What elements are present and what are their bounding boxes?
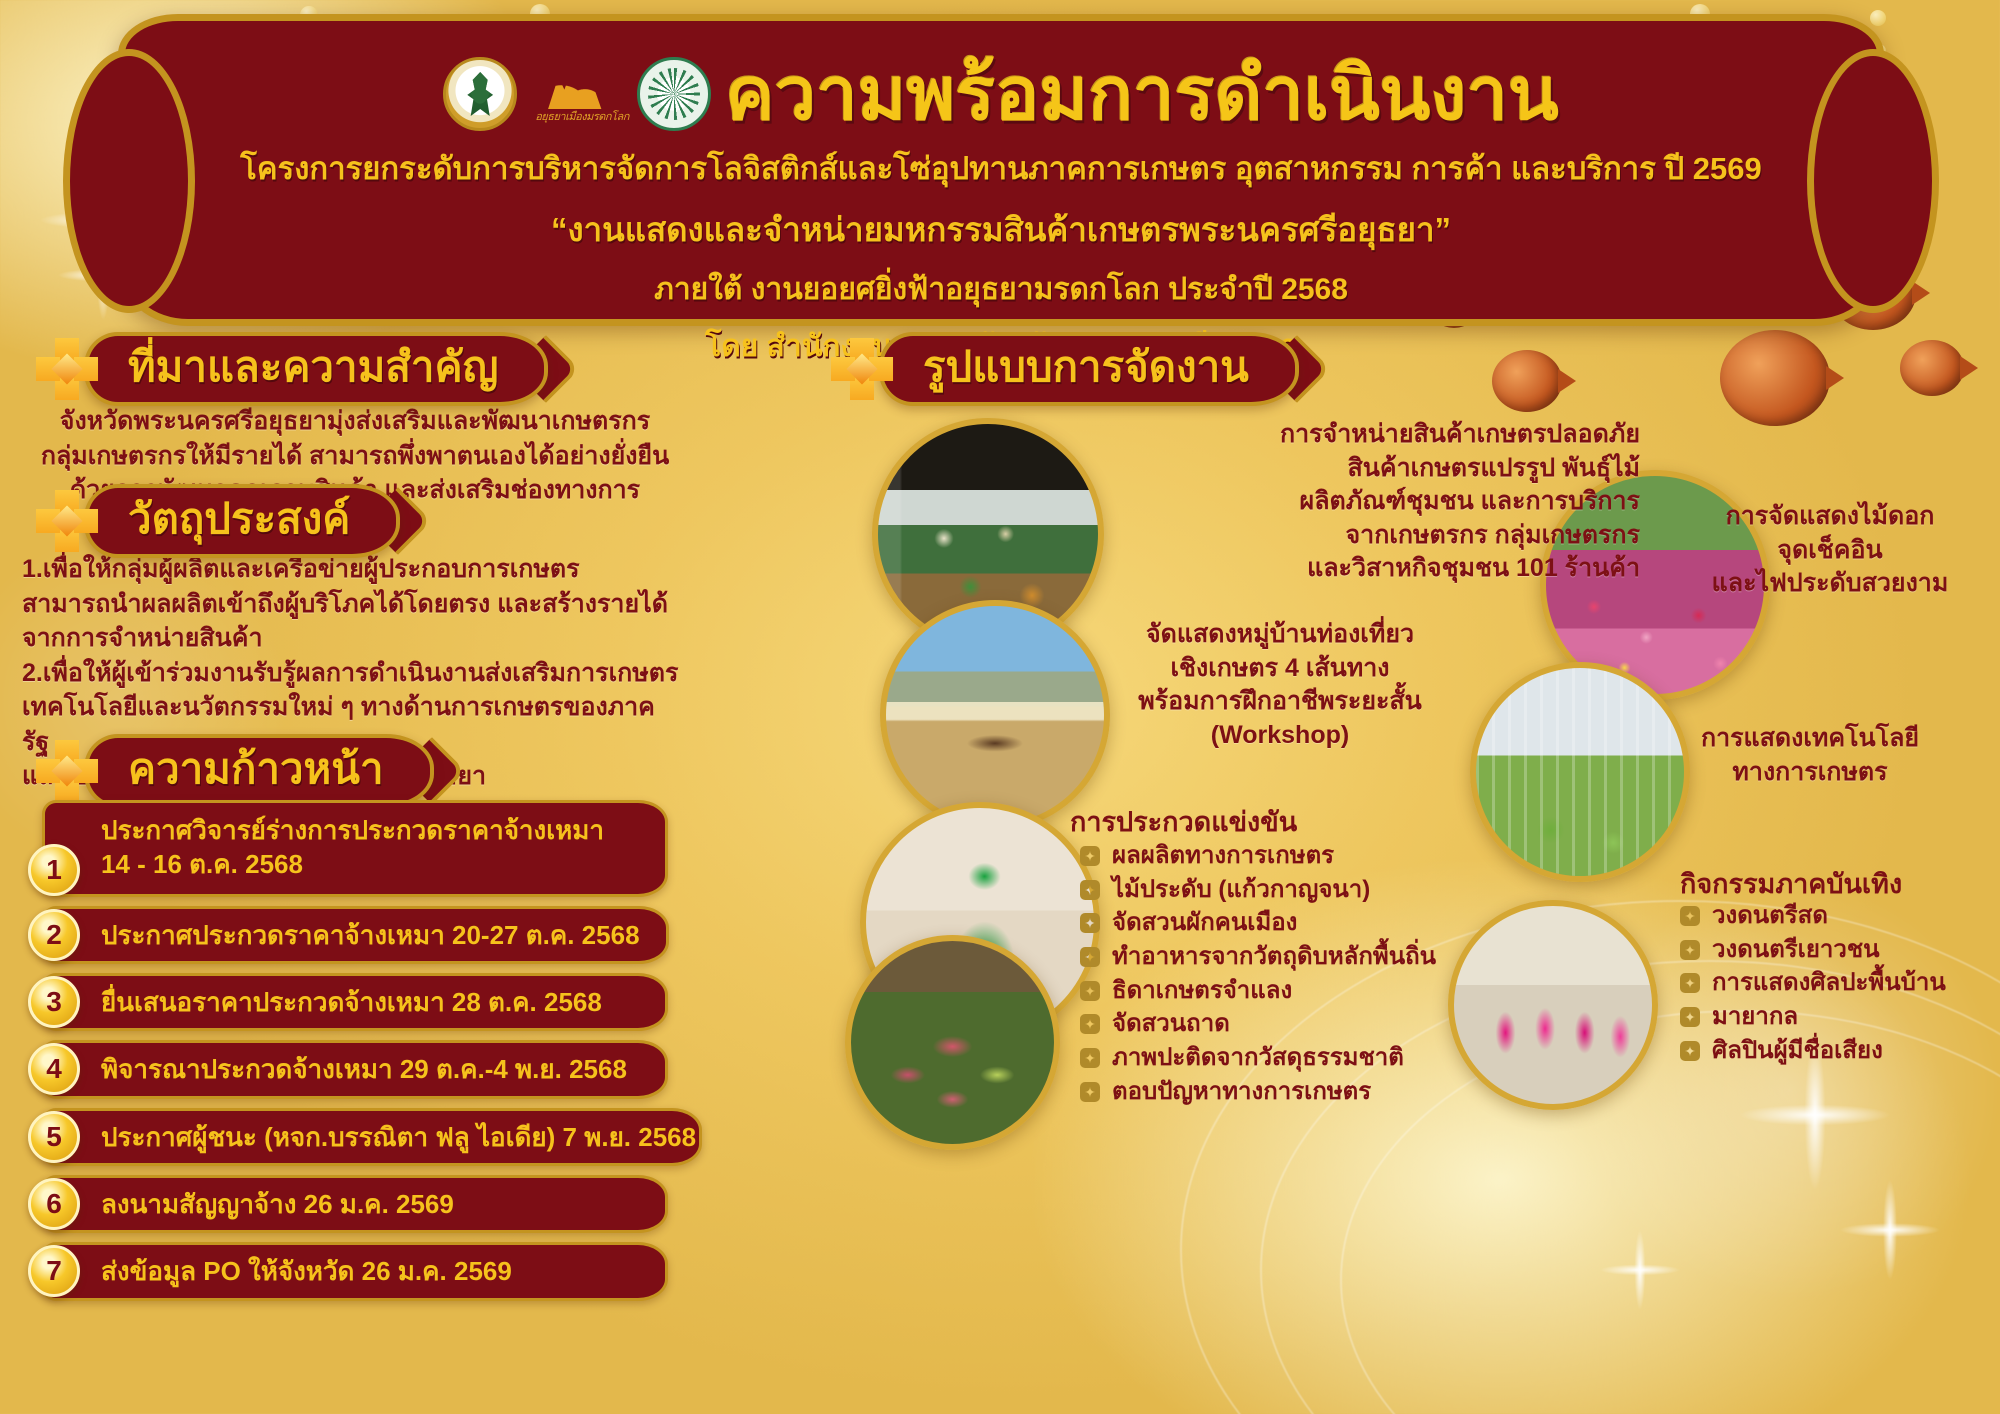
flower-bullet-icon (1680, 973, 1700, 993)
competition-title: การประกวดแข่งขัน (1070, 800, 1297, 843)
thai-flower-ornament-icon (30, 732, 104, 810)
page-title: ความพร้อมการดำเนินงาน (725, 57, 1559, 131)
progress-step[interactable]: 2 ประกาศประกวดราคาจ้างเหมา 20-27 ต.ค. 25… (28, 906, 668, 964)
step-number: 2 (28, 909, 80, 961)
section-header-progress: ความก้าวหน้า (30, 732, 434, 810)
flower-bullet-icon (1680, 906, 1700, 926)
list-item: วงดนตรีสด (1680, 900, 2000, 932)
step-text: ยื่นเสนอราคาประกวดจ้างเหมา 28 ต.ค. 2568 (101, 985, 639, 1019)
event-name: “งานแสดงและจำหน่ายมหกรรมสินค้าเกษตรพระนค… (125, 203, 1877, 256)
list-item: ผลผลิตทางการเกษตร (1080, 840, 1520, 872)
event-format-caption-4: การแสดงเทคโนโลยี ทางการเกษตร (1640, 722, 1980, 789)
event-format-caption-3: จัดแสดงหมู่บ้านท่องเที่ยว เชิงเกษตร 4 เส… (1040, 618, 1520, 752)
flower-bullet-icon (1080, 981, 1100, 1001)
flower-bullet-icon (1680, 940, 1700, 960)
step-text: ประกาศผู้ชนะ (หจก.บรรณิตา ฟลู ไอเดีย) 7 … (101, 1120, 673, 1154)
bottom-foliage-decoration (0, 1294, 2000, 1414)
section-title-objectives: วัตถุประสงค์ (128, 495, 350, 543)
step-number: 4 (28, 1043, 80, 1095)
step-text: ส่งข้อมูล PO ให้จังหวัด 26 ม.ค. 2569 (101, 1254, 639, 1288)
thai-flower-ornament-icon (30, 482, 104, 560)
list-item: มายากล (1680, 1001, 2000, 1033)
section-header-background: ที่มาและความสำคัญ (30, 330, 548, 408)
list-item: ธิดาเกษตรจำแลง (1080, 975, 1520, 1007)
progress-step[interactable]: 1 ประกาศวิจารย์ร่างการประกวดราคาจ้างเหมา… (28, 800, 668, 897)
progress-step[interactable]: 6 ลงนามสัญญาจ้าง 26 ม.ค. 2569 (28, 1175, 668, 1233)
entertainment-list: วงดนตรีสด วงดนตรีเยาวชน การแสดงศิลปะพื้น… (1680, 900, 2000, 1068)
sparkle-icon (1840, 1180, 1940, 1280)
flower-bullet-icon (1080, 1014, 1100, 1034)
flower-bullet-icon (1080, 1082, 1100, 1102)
list-item: ตอบปัญหาทางการเกษตร (1080, 1076, 1520, 1108)
section-header-event-format: รูปแบบการจัดงาน (825, 330, 1299, 408)
flower-bullet-icon (1680, 1007, 1700, 1027)
competition-list: ผลผลิตทางการเกษตร ไม้ประดับ (แก้วกาญจนา)… (1080, 840, 1520, 1109)
list-item: ไม้ประดับ (แก้วกาญจนา) (1080, 874, 1520, 906)
flower-bullet-icon (1080, 846, 1100, 866)
title-row: ความพร้อมการดำเนินงาน (125, 21, 1877, 129)
list-item: ศิลปินผู้มีชื่อเสียง (1680, 1035, 2000, 1067)
flower-bullet-icon (1680, 1041, 1700, 1061)
header-banner: ความพร้อมการดำเนินงาน โครงการยกระดับการบ… (118, 14, 1884, 326)
flower-bullet-icon (1080, 913, 1100, 933)
entertainment-title: กิจกรรมภาคบันเทิง (1680, 862, 1902, 905)
event-format-caption-2: การจัดแสดงไม้ดอก จุดเช็คอิน และไฟประดับส… (1660, 500, 2000, 601)
progress-step[interactable]: 7 ส่งข้อมูล PO ให้จังหวัด 26 ม.ค. 2569 (28, 1242, 668, 1300)
event-format-caption-1: การจำหน่ายสินค้าเกษตรปลอดภัย สินค้าเกษตร… (1060, 418, 1640, 586)
department-of-agricultural-extension-seal-icon (637, 57, 711, 131)
project-line: โครงการยกระดับการบริหารจัดการโลจิสติกส์แ… (125, 143, 1877, 193)
step-text: ประกาศประกวดราคาจ้างเหมา 20-27 ต.ค. 2568 (101, 918, 640, 952)
progress-step[interactable]: 5 ประกาศผู้ชนะ (หจก.บรรณิตา ฟลู ไอเดีย) … (28, 1108, 668, 1166)
sparkle-icon (1600, 1230, 1680, 1310)
step-number: 7 (28, 1245, 80, 1297)
list-item: วงดนตรีเยาวชน (1680, 934, 2000, 966)
under-line: ภายใต้ งานยอยศยิ่งฟ้าอยุธยามรดกโลก ประจำ… (125, 266, 1877, 313)
progress-step[interactable]: 4 พิจารณาประกวดจ้างเหมา 29 ต.ค.-4 พ.ย. 2… (28, 1040, 668, 1098)
progress-step[interactable]: 3 ยื่นเสนอราคาประกวดจ้างเหมา 28 ต.ค. 256… (28, 973, 668, 1031)
flower-bullet-icon (1080, 880, 1100, 900)
section-title-background: ที่มาและความสำคัญ (128, 343, 498, 391)
thai-flower-ornament-icon (30, 330, 104, 408)
list-item: ทำอาหารจากวัตถุดิบหลักพื้นถิ่น (1080, 941, 1520, 973)
garuda-provincial-seal-icon (443, 57, 517, 131)
thai-flower-ornament-icon (825, 330, 899, 408)
progress-steps-list: 1 ประกาศวิจารย์ร่างการประกวดราคาจ้างเหมา… (28, 800, 668, 1310)
step-number: 1 (28, 844, 80, 896)
section-header-objectives: วัตถุประสงค์ (30, 482, 400, 560)
flower-bullet-icon (1080, 1048, 1100, 1068)
flower-bullet-icon (1080, 947, 1100, 967)
step-text: พิจารณาประกวดจ้างเหมา 29 ต.ค.-4 พ.ย. 256… (101, 1052, 639, 1086)
section-title-event-format: รูปแบบการจัดงาน (923, 343, 1249, 391)
list-item: ภาพปะติดจากวัสดุธรรมชาติ (1080, 1042, 1520, 1074)
section-title-progress: ความก้าวหน้า (128, 745, 384, 793)
list-item: การแสดงศิลปะพื้นบ้าน (1680, 967, 2000, 999)
ornamental-plant-photo (845, 935, 1060, 1150)
list-item: จัดสวนผักคนเมือง (1080, 907, 1520, 939)
step-number: 6 (28, 1178, 80, 1230)
list-item: จัดสวนถาด (1080, 1008, 1520, 1040)
step-text: ลงนามสัญญาจ้าง 26 ม.ค. 2569 (101, 1187, 639, 1221)
step-text: ประกาศวิจารย์ร่างการประกวดราคาจ้างเหมา 1… (101, 813, 639, 882)
step-number: 5 (28, 1111, 80, 1163)
step-number: 3 (28, 976, 80, 1028)
ayutthaya-world-heritage-logo-icon (531, 57, 623, 131)
